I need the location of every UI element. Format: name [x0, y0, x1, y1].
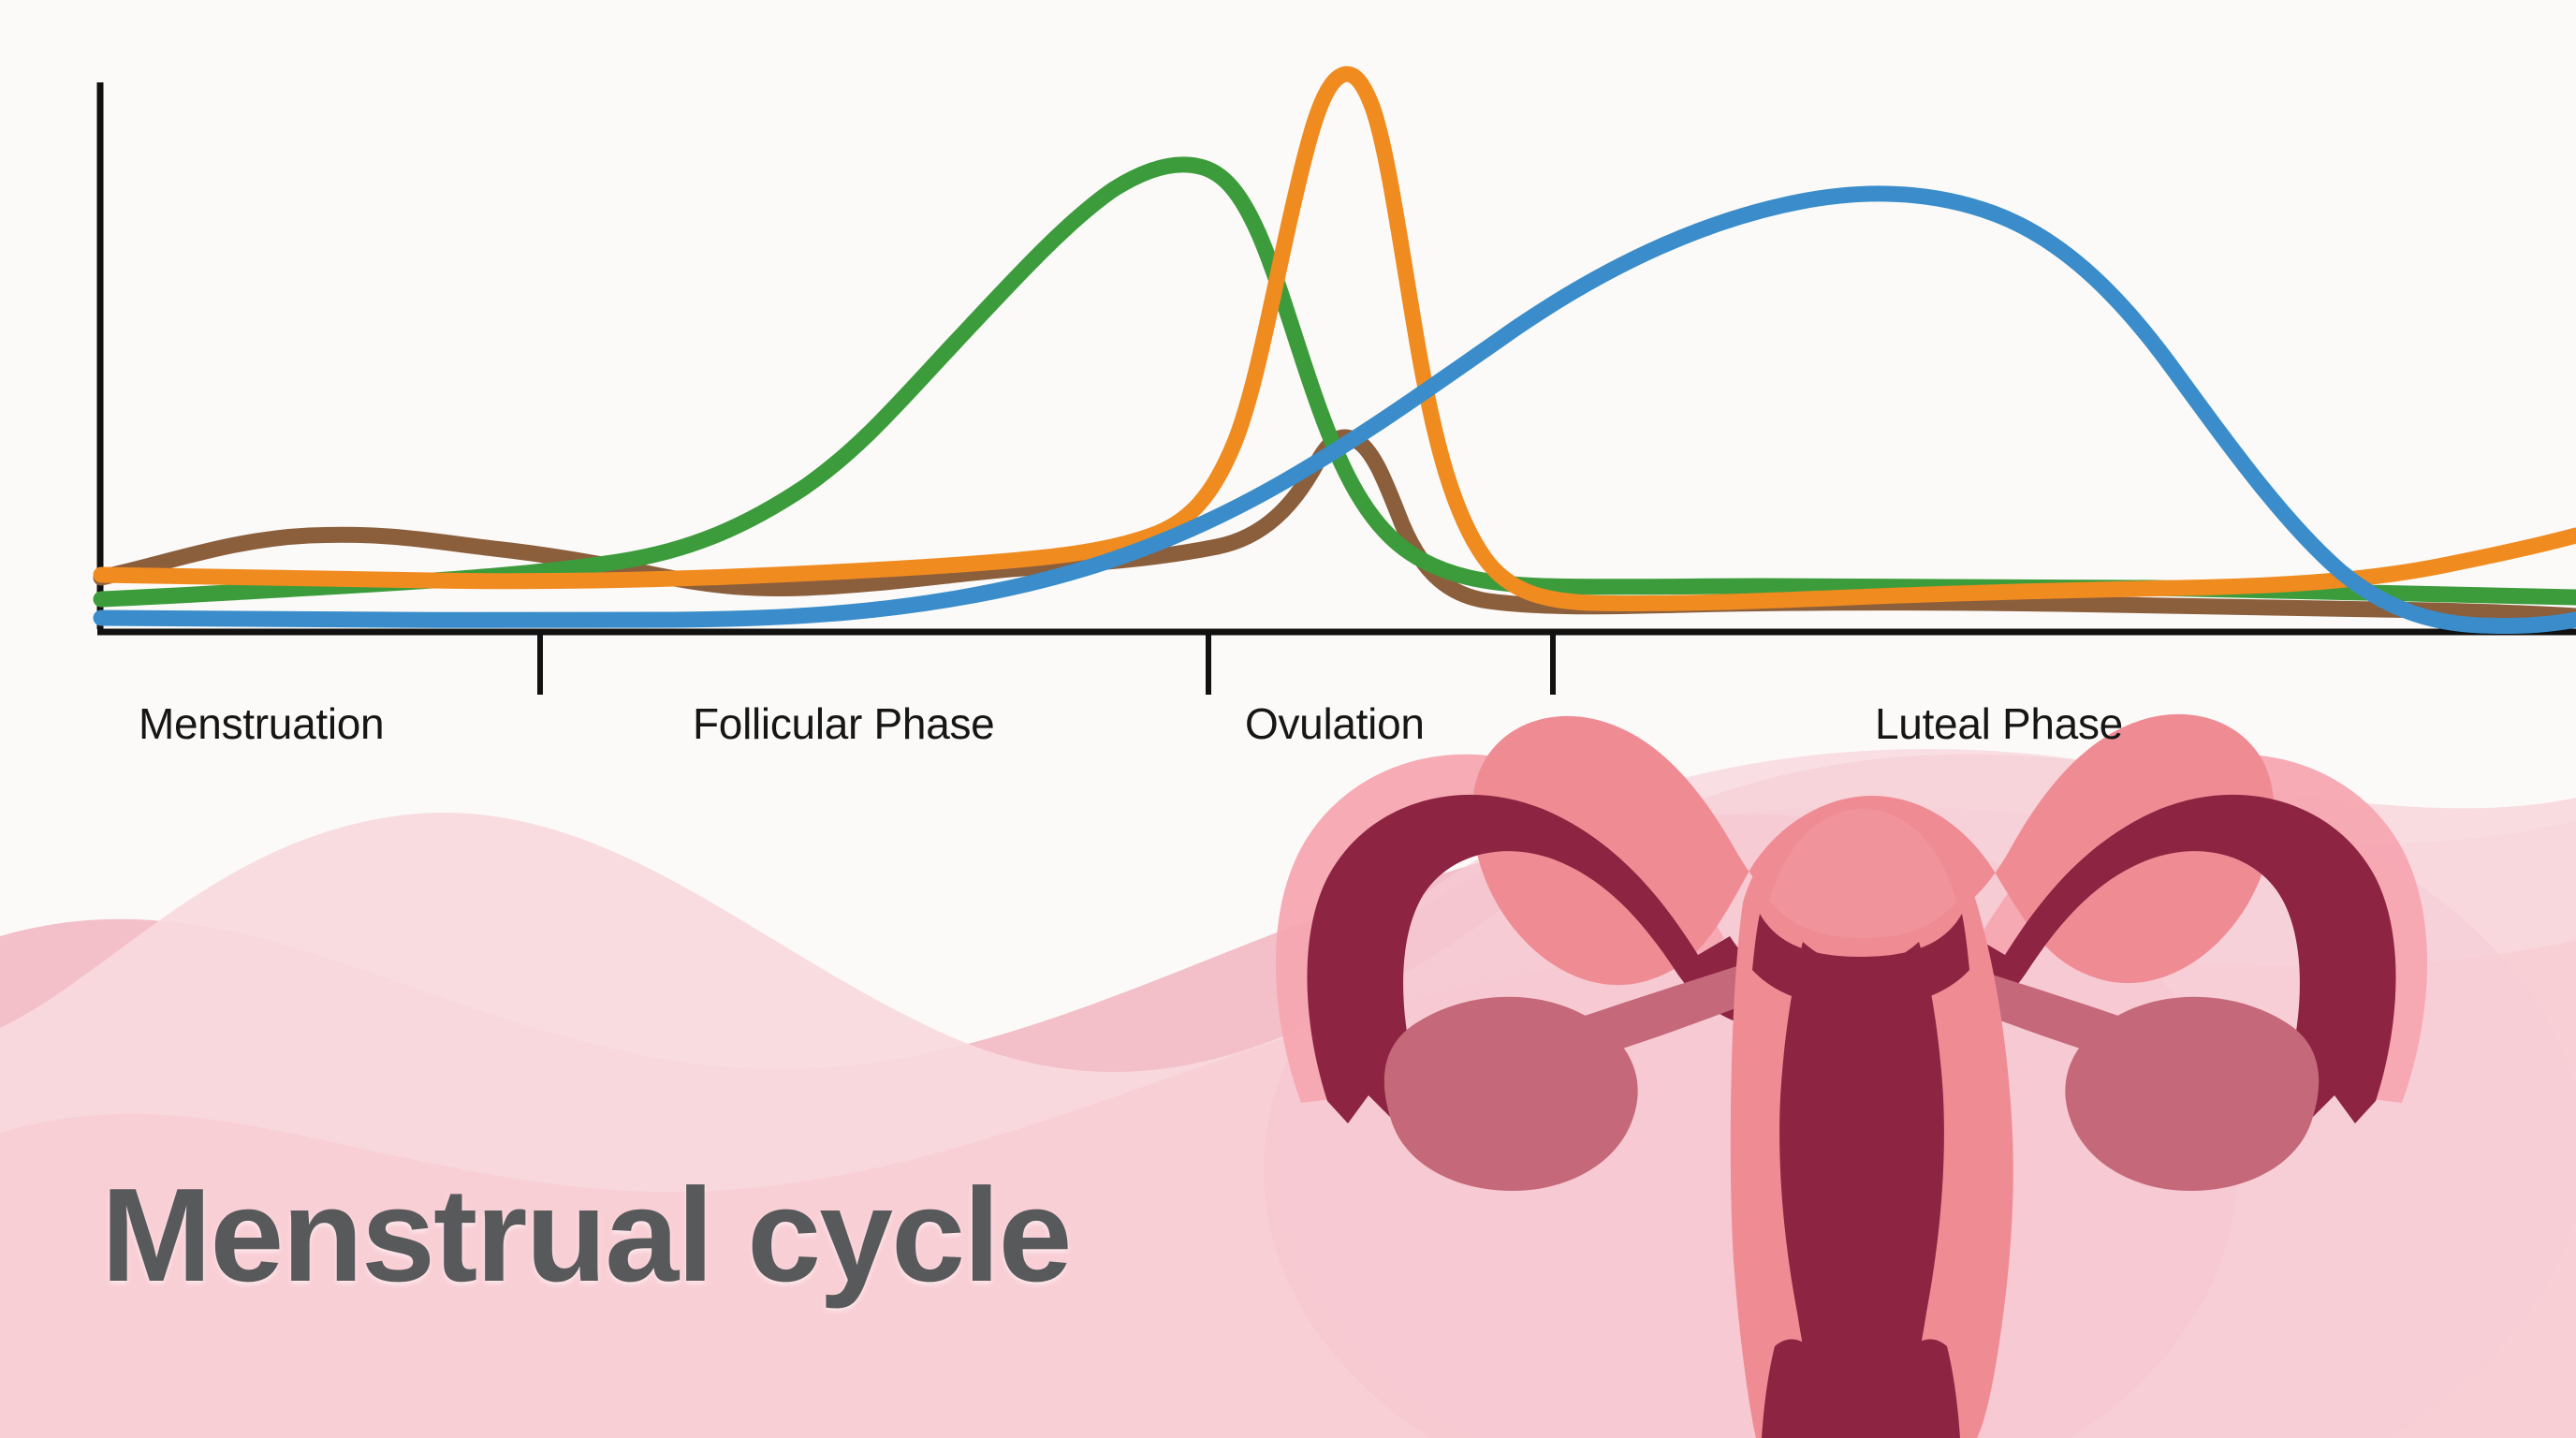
poster-canvas: Menstruation Follicular Phase Ovulation …: [0, 0, 2576, 1438]
curve-lh: [101, 74, 2576, 603]
phase-label-menstruation: Menstruation: [139, 698, 384, 749]
phase-label-follicular: Follicular Phase: [693, 698, 994, 749]
phase-label-luteal: Luteal Phase: [1875, 698, 2123, 749]
curve-estrogen: [101, 194, 2576, 626]
page-title: Menstrual cycle: [101, 1159, 1071, 1313]
phase-label-ovulation: Ovulation: [1245, 698, 1425, 749]
curve-fsh: [101, 165, 2576, 599]
